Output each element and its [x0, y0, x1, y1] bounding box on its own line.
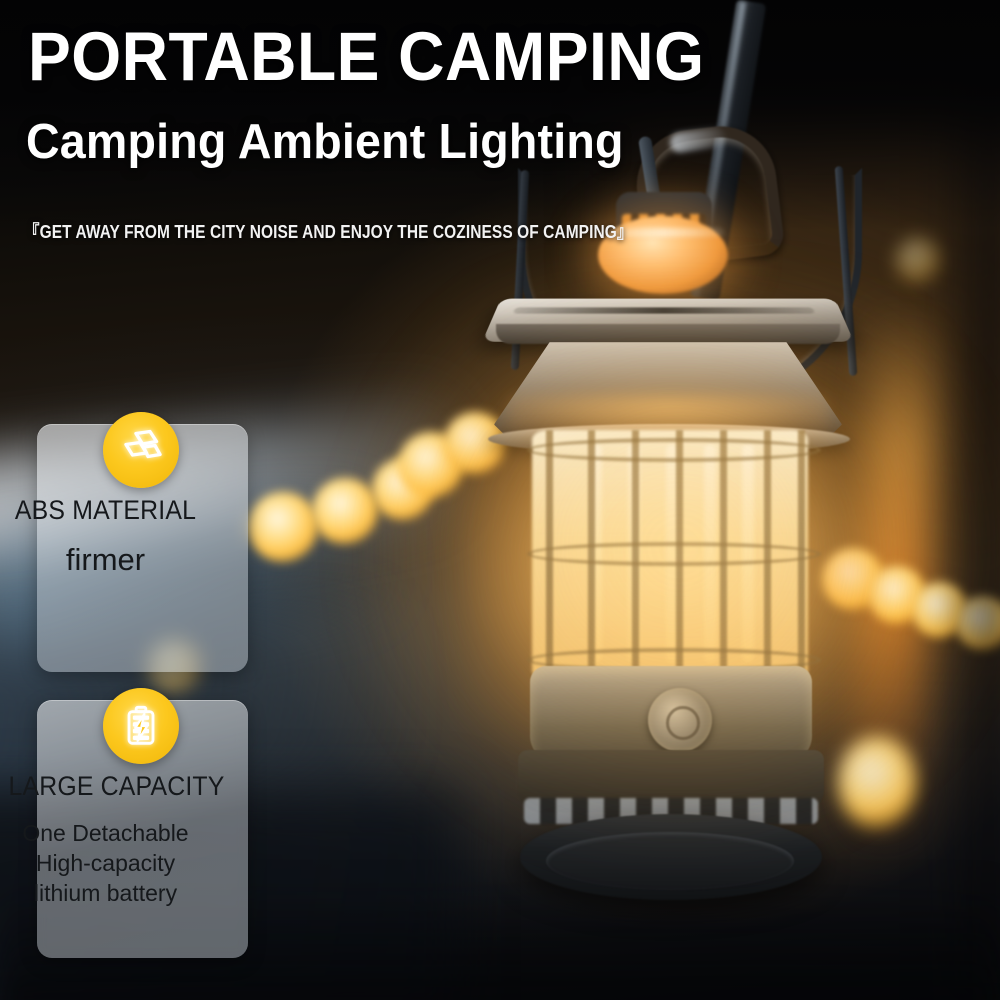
panel-lid-groove [513, 307, 815, 313]
page-subtitle: Camping Ambient Lighting [26, 113, 624, 171]
product-banner: PORTABLE CAMPING Camping Ambient Lightin… [0, 0, 1000, 1000]
cage-ring [527, 438, 821, 462]
tagline: 『GET AWAY FROM THE CITY NOISE AND ENJOY … [24, 220, 632, 244]
panel-lid-edge [496, 324, 840, 344]
feature-line: lithium battery [0, 878, 211, 908]
gold-ingot-icon [103, 412, 179, 488]
feature-line: One Detachable [0, 818, 211, 848]
feature-line: High-capacity [0, 848, 211, 878]
battery-bolt-icon [103, 688, 179, 764]
bokeh-light [248, 492, 318, 562]
bokeh-light [312, 478, 378, 544]
feature-description-capacity: One Detachable High-capacity lithium bat… [0, 818, 211, 908]
filament-cage [532, 430, 808, 680]
feature-title-capacity: LARGE CAPACITY [8, 770, 202, 802]
cage-ring [527, 542, 821, 566]
page-title: PORTABLE CAMPING [28, 18, 704, 96]
feature-title-abs: ABS MATERIAL [8, 494, 202, 526]
lantern-base-plate [546, 832, 794, 890]
feature-subtitle-abs: firmer [0, 542, 211, 578]
control-knob-ring [666, 706, 700, 740]
